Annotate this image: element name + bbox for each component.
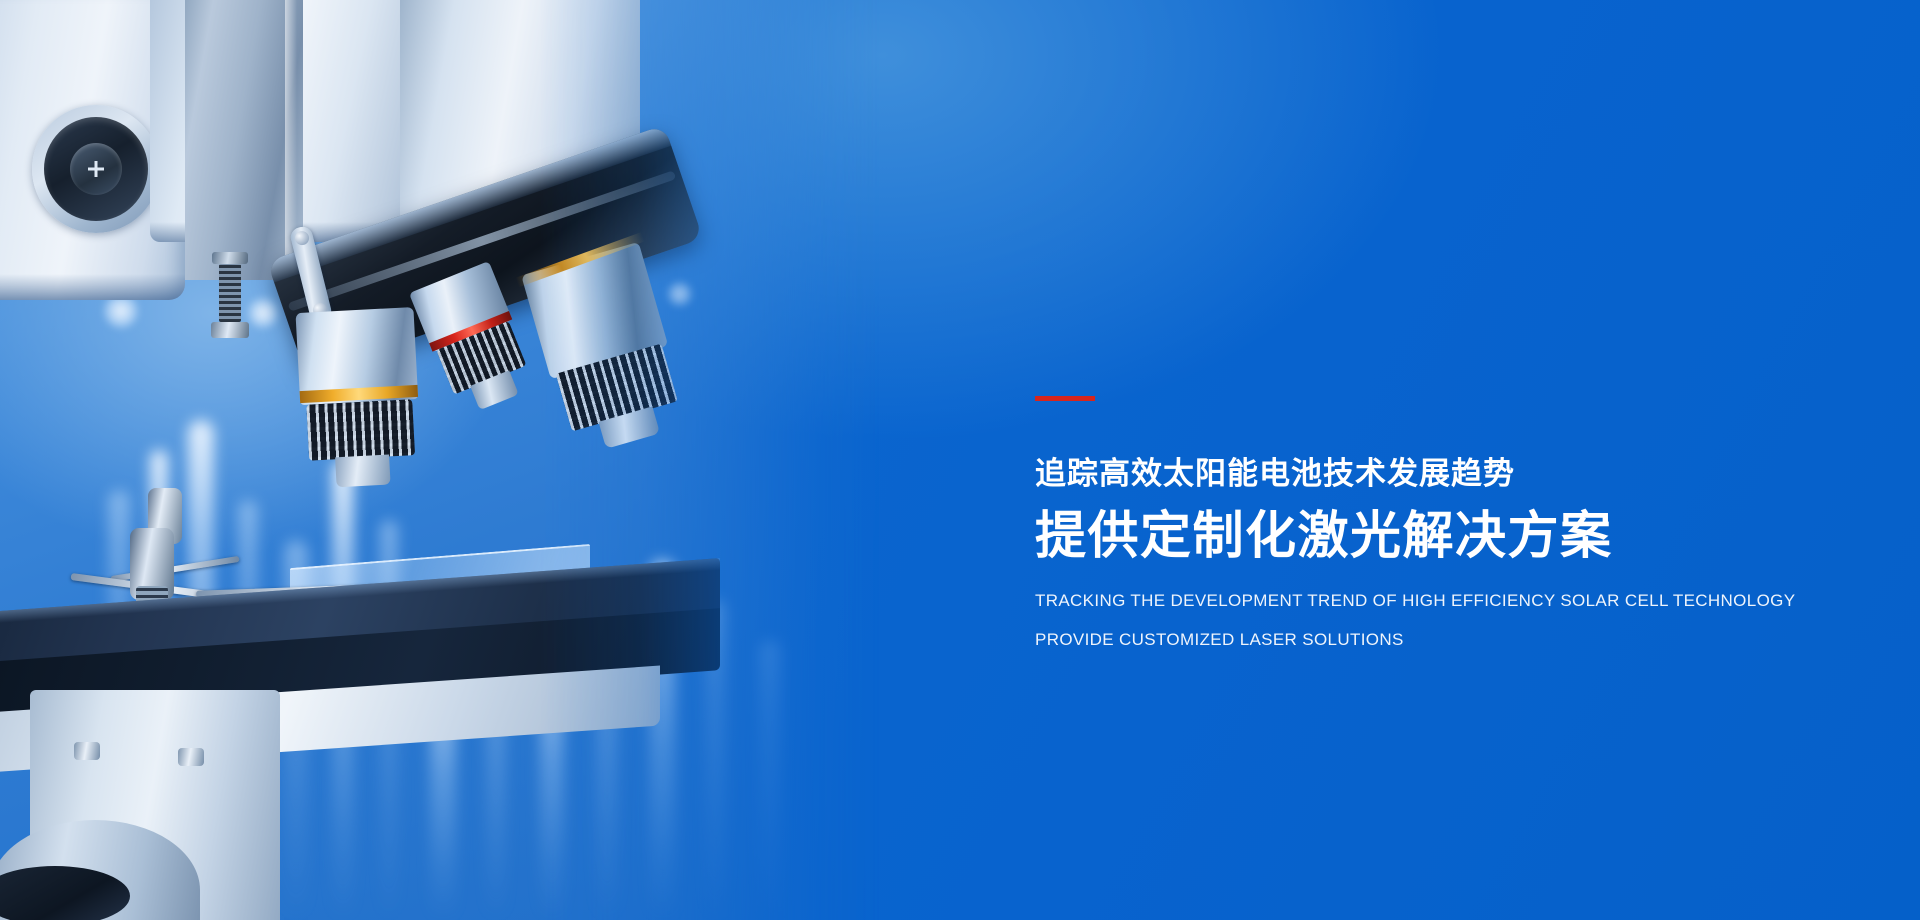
- hero-eyebrow: 追踪高效太阳能电池技术发展趋势: [1035, 458, 1855, 489]
- objective-knurled-grip: [306, 399, 415, 460]
- light-bokeh-dot: [248, 298, 278, 328]
- thumb-screw-foot: [211, 322, 249, 338]
- light-bokeh-dot: [668, 282, 692, 306]
- stage-clip-spring-post: [130, 528, 174, 600]
- phillips-screw-icon: [88, 161, 104, 177]
- focus-knob-hub: [70, 143, 122, 195]
- thumb-screw-cap: [212, 252, 248, 264]
- hero-subtitle-line-1: TRACKING THE DEVELOPMENT TREND OF HIGH E…: [1035, 592, 1855, 609]
- focus-knob: [32, 105, 160, 233]
- objective-lens-yellow: [296, 307, 423, 488]
- thumb-screw-shaft: [219, 264, 241, 322]
- light-streak: [760, 640, 782, 920]
- focus-knob-face: [44, 117, 148, 221]
- objective-front-lens: [335, 455, 390, 488]
- body-column-grey: [185, 0, 303, 280]
- hero-banner: 追踪高效太阳能电池技术发展趋势 提供定制化激光解决方案 TRACKING THE…: [0, 0, 1920, 920]
- hero-headline: 提供定制化激光解决方案: [1035, 510, 1855, 561]
- base-screw: [178, 748, 204, 766]
- thumb-screw: [212, 252, 248, 348]
- base-screw: [74, 742, 100, 760]
- microscope-photo: [0, 0, 880, 920]
- hero-copy: 追踪高效太阳能电池技术发展趋势 提供定制化激光解决方案 TRACKING THE…: [1035, 396, 1855, 648]
- hero-subtitle-line-2: PROVIDE CUSTOMIZED LASER SOLUTIONS: [1035, 631, 1855, 648]
- red-accent-rule: [1035, 396, 1095, 401]
